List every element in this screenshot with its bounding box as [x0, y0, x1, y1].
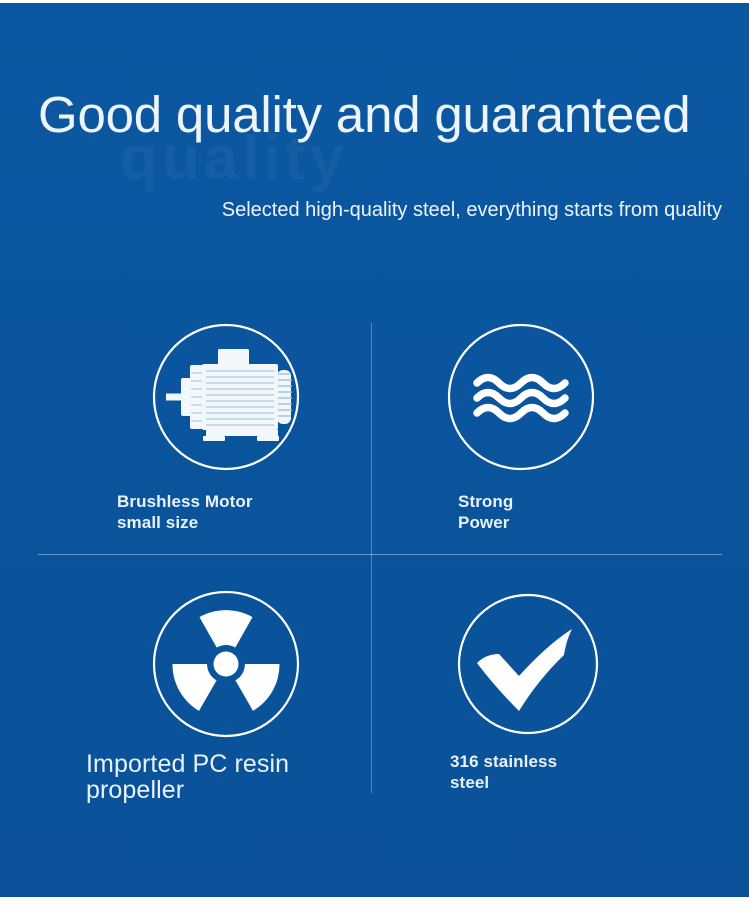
feature-item-strong-power: Strong Power	[440, 321, 725, 533]
feature-item-brushless-motor: Brushless Motor small size	[86, 321, 366, 533]
product-feature-banner: quality Good quality and guaranteed Sele…	[0, 0, 749, 913]
page-title: Good quality and guaranteed	[38, 84, 718, 146]
page-subtitle: Selected high-quality steel, everything …	[38, 195, 722, 225]
checkmark-icon	[455, 591, 725, 737]
banner-panel: quality Good quality and guaranteed Sele…	[0, 3, 749, 897]
feature-label: Strong Power	[458, 491, 725, 533]
vertical-divider	[371, 323, 372, 793]
feature-label: 316 stainless steel	[450, 751, 725, 793]
electric-motor-icon	[150, 321, 366, 473]
radiation-propeller-icon	[150, 588, 371, 740]
feature-label: Brushless Motor small size	[117, 491, 366, 533]
feature-label: Imported PC resin propeller	[86, 751, 371, 803]
horizontal-divider	[38, 554, 722, 555]
feature-item-pc-resin-propeller: Imported PC resin propeller	[86, 588, 371, 803]
feature-item-stainless-steel: 316 stainless steel	[440, 591, 725, 793]
water-waves-icon	[445, 321, 725, 473]
